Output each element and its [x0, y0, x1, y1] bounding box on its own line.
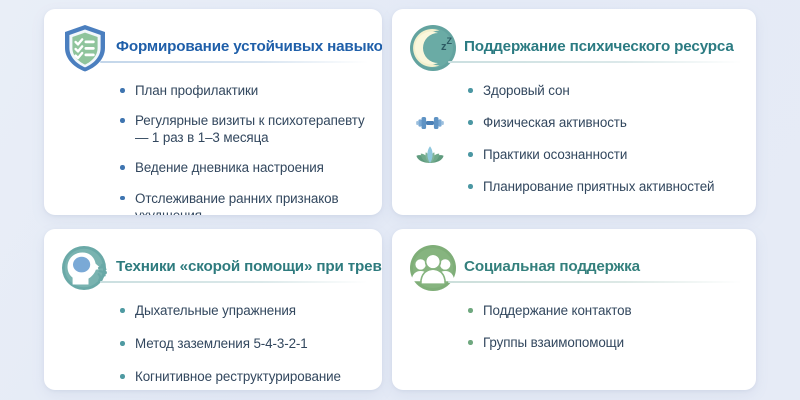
bullet-dot: [468, 308, 473, 313]
list-item: Здоровый сон: [466, 82, 740, 99]
title-divider: [448, 281, 742, 283]
list-item: Практики осознанности: [466, 146, 740, 163]
bullet-dot: [468, 120, 473, 125]
page-title: Поддержание психического ресурса: [464, 38, 734, 55]
list-item: Регулярные визиты к психотерапевту — 1 р…: [118, 112, 366, 146]
page-title: Формирование устойчивых навыков: [116, 38, 382, 55]
moon-sleep-icon: z Z: [406, 21, 460, 75]
list-item-label: Метод заземления 5-4-3-2-1: [135, 336, 308, 351]
list-item: Поддержание контактов: [466, 302, 740, 319]
list-item-label: Дыхательные упражнения: [135, 303, 296, 318]
bullet-dot: [468, 152, 473, 157]
title-divider: [100, 61, 368, 63]
bullet-dot: [120, 341, 125, 346]
page-title: Техники «скорой помощи» при тревоге: [116, 258, 382, 275]
list-item: Когнитивное реструктурирование: [118, 368, 366, 385]
list-item-label: Отслеживание ранних признаков ухудшения: [135, 191, 339, 215]
bullet-dot: [120, 308, 125, 313]
lotus-icon: [415, 142, 445, 168]
list-item: Дыхательные упражнения: [118, 302, 366, 319]
list-item: Метод заземления 5-4-3-2-1: [118, 335, 366, 352]
head-breathing-icon: [58, 241, 112, 295]
list-item: План профилактики: [118, 82, 366, 99]
card-sustainable-skills: Формирование устойчивых навыков План про…: [44, 9, 382, 215]
bullet-list: Здоровый сон: [466, 82, 740, 196]
infographic-board: Формирование устойчивых навыков План про…: [0, 0, 800, 400]
card-mental-resource: z Z Поддержание психического ресурса Здо…: [392, 9, 756, 215]
list-item-label: Группы взаимопомощи: [483, 335, 624, 350]
svg-text:Z: Z: [447, 36, 453, 46]
bullet-dot: [468, 88, 473, 93]
bullet-dot: [468, 184, 473, 189]
title-divider: [448, 61, 742, 63]
bullet-dot: [468, 340, 473, 345]
card-header: Техники «скорой помощи» при тревоге: [116, 243, 366, 291]
list-item: Отслеживание ранних признаков ухудшения: [118, 190, 366, 215]
title-divider: [100, 281, 368, 283]
list-item-label: Когнитивное реструктурирование: [135, 369, 341, 384]
list-item-label: План профилактики: [135, 83, 258, 98]
list-item: Физическая активность: [466, 114, 740, 131]
card-header: Поддержание психического ресурса: [464, 23, 740, 71]
bullet-list: План профилактики Регулярные визиты к пс…: [118, 82, 366, 215]
bullet-dot: [120, 118, 125, 123]
page-title: Социальная поддержка: [464, 258, 640, 275]
list-item-label: Поддержание контактов: [483, 303, 631, 318]
card-header: Социальная поддержка: [464, 243, 740, 291]
bullet-list: Поддержание контактов Группы взаимопомощ…: [466, 302, 740, 351]
list-item: Группы взаимопомощи: [466, 334, 740, 351]
bullet-dot: [120, 374, 125, 379]
list-item: Планирование приятных активностей: [466, 178, 740, 195]
shield-checklist-icon: [58, 21, 112, 75]
people-group-icon: [406, 241, 460, 295]
dumbbell-icon: [415, 110, 445, 136]
list-item-label: Практики осознанности: [483, 147, 627, 162]
card-emergency-techniques: Техники «скорой помощи» при тревоге Дыха…: [44, 229, 382, 390]
list-item-label: Планирование приятных активностей: [483, 179, 714, 194]
bullet-list: Дыхательные упражнения Метод заземления …: [118, 302, 366, 385]
list-item-label: Здоровый сон: [483, 83, 570, 98]
bullet-dot: [120, 165, 125, 170]
list-item-label: Физическая активность: [483, 115, 627, 130]
list-item-label: Регулярные визиты к психотерапевту — 1 р…: [135, 113, 365, 145]
bullet-dot: [120, 196, 125, 201]
card-header: Формирование устойчивых навыков: [116, 23, 366, 71]
list-item-label: Ведение дневника настроения: [135, 160, 324, 175]
bullet-dot: [120, 88, 125, 93]
card-social-support: Социальная поддержка Поддержание контакт…: [392, 229, 756, 390]
list-item: Ведение дневника настроения: [118, 159, 366, 176]
